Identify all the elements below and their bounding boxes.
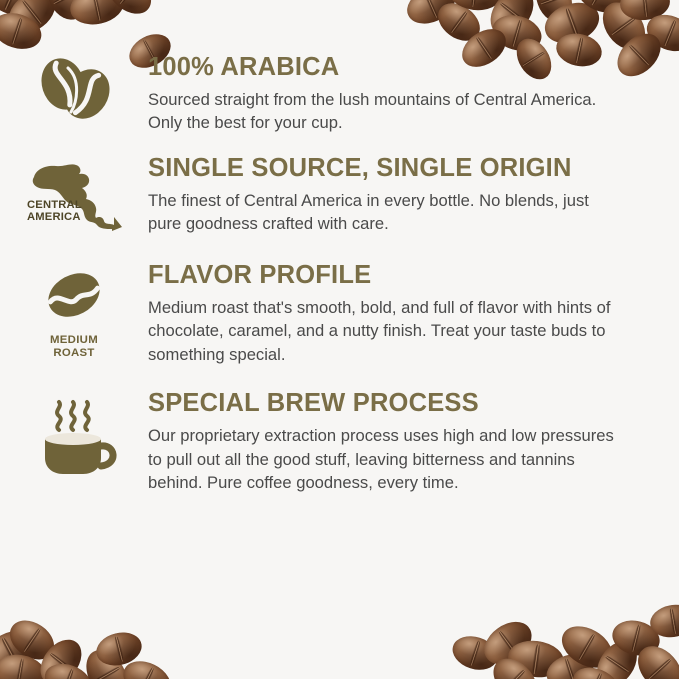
feature-text-cell: SINGLE SOURCE, SINGLE ORIGIN The finest … (148, 155, 658, 236)
feature-row-single-origin: CENTRAL AMERICA SINGLE SOURCE, SINGLE OR… (0, 155, 679, 236)
bean-caption-line-2: ROAST (50, 347, 98, 360)
feature-title: SPECIAL BREW PROCESS (148, 390, 618, 417)
single-coffee-bean-icon (36, 266, 112, 329)
map-caption-line-2: AMERICA (27, 211, 82, 223)
feature-title: 100% ARABICA (148, 54, 618, 81)
feature-body: The finest of Central America in every b… (148, 189, 618, 236)
feature-text-cell: FLAVOR PROFILE Medium roast that's smoot… (148, 262, 658, 366)
feature-body: Sourced straight from the lush mountains… (148, 88, 618, 135)
bean-icon-caption: MEDIUM ROAST (50, 334, 98, 360)
feature-icon-cell: MEDIUM ROAST (0, 262, 148, 360)
feature-body: Medium roast that's smooth, bold, and fu… (148, 296, 618, 367)
map-icon-caption: CENTRAL AMERICA (27, 199, 82, 223)
coffee-beans-pair-icon (33, 58, 115, 125)
map-caption-line-1: CENTRAL (27, 199, 82, 211)
bean-caption-line-1: MEDIUM (50, 334, 98, 347)
feature-icon-cell (0, 54, 148, 125)
feature-sections: 100% ARABICA Sourced straight from the l… (0, 54, 679, 509)
feature-title: FLAVOR PROFILE (148, 262, 618, 289)
feature-icon-cell (0, 390, 148, 485)
feature-list-page: 100% ARABICA Sourced straight from the l… (0, 0, 679, 679)
feature-body: Our proprietary extraction process uses … (148, 424, 618, 495)
feature-icon-cell: CENTRAL AMERICA (0, 155, 148, 231)
feature-row-arabica: 100% ARABICA Sourced straight from the l… (0, 54, 679, 135)
coffee-bean-photo-border-bottom (0, 611, 679, 679)
feature-title: SINGLE SOURCE, SINGLE ORIGIN (148, 155, 618, 182)
steaming-coffee-cup-icon (31, 394, 117, 485)
feature-text-cell: 100% ARABICA Sourced straight from the l… (148, 54, 658, 135)
feature-row-brew-process: SPECIAL BREW PROCESS Our proprietary ext… (0, 390, 679, 494)
feature-row-flavor-profile: MEDIUM ROAST FLAVOR PROFILE Medium roast… (0, 262, 679, 366)
feature-text-cell: SPECIAL BREW PROCESS Our proprietary ext… (148, 390, 658, 494)
